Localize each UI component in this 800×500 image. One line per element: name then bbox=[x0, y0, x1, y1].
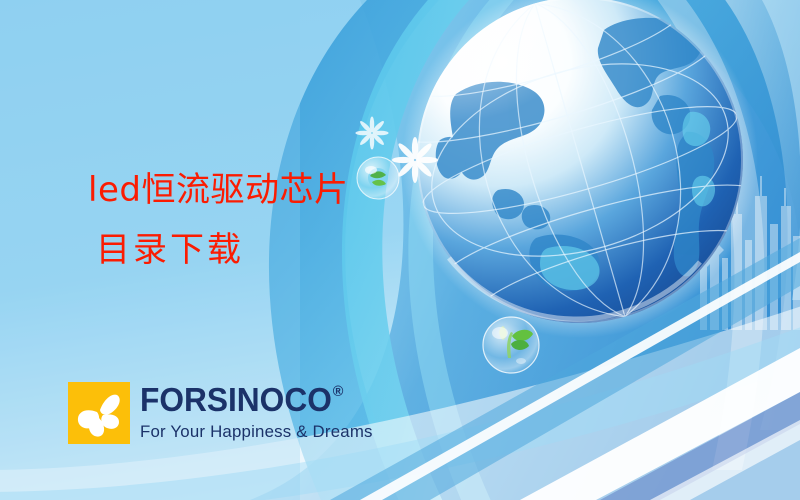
logo-wordmark: FORSINOCO ® bbox=[140, 383, 366, 416]
headline-line-1: led恒流驱动芯片 bbox=[88, 172, 348, 209]
headline-line-2: 目录下载 bbox=[96, 232, 244, 269]
pinwheel-petals-icon bbox=[68, 382, 130, 444]
logo-text-block: FORSINOCO ® For Your Happiness & Dreams bbox=[140, 382, 375, 440]
bubble-sprout-shape bbox=[483, 317, 539, 373]
pinwheel-petals-shape bbox=[68, 382, 130, 444]
bubble-globe-shape bbox=[357, 157, 399, 199]
registered-trademark-icon: ® bbox=[333, 384, 344, 399]
logo-tagline: For Your Happiness & Dreams bbox=[140, 423, 373, 440]
logo-wordmark-text: FORSINOCO bbox=[140, 383, 332, 416]
banner-image: led恒流驱动芯片 目录下载 FORSINOCO ® For Your Happ… bbox=[0, 0, 800, 500]
company-logo: FORSINOCO ® For Your Happiness & Dreams bbox=[68, 382, 375, 444]
